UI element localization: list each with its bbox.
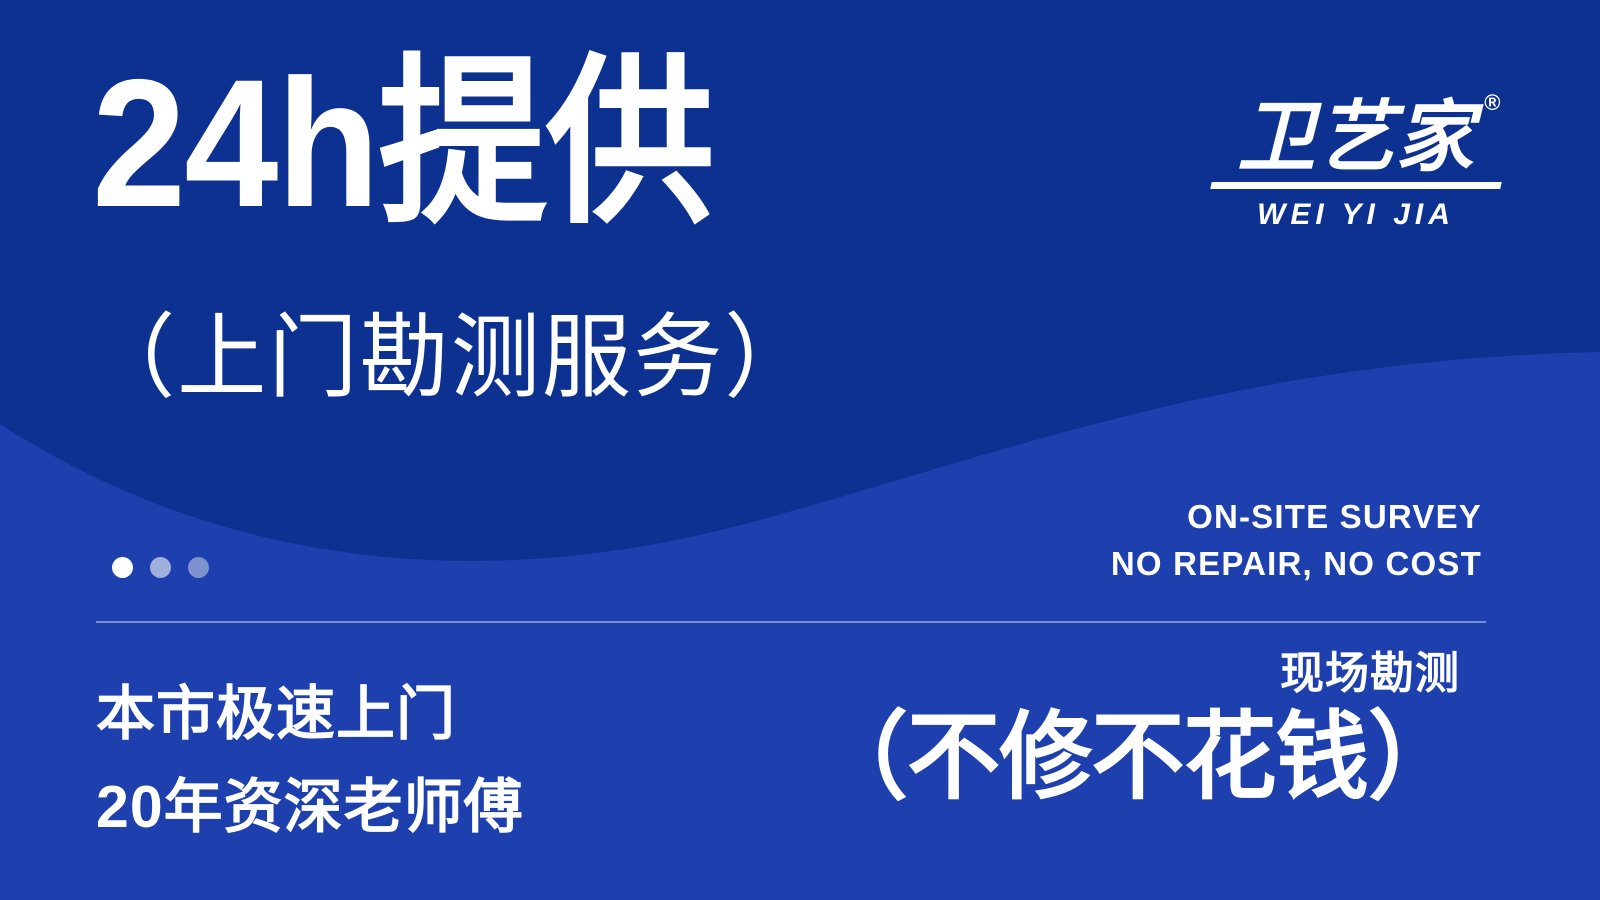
registered-trademark-icon: ® xyxy=(1484,92,1500,114)
promo-banner: 24h提供 （上门勘测服务） 卫艺家 ® WEI YI JIA ON-SITE … xyxy=(0,0,1600,900)
logo-brand-cn: 卫艺家 xyxy=(1237,98,1474,176)
claim-line-2: NO REPAIR, NO COST xyxy=(1111,541,1482,588)
bottom-right-big: （不修不花钱） xyxy=(815,710,1460,806)
brand-logo[interactable]: 卫艺家 ® WEI YI JIA xyxy=(1196,98,1516,232)
dot-1-icon xyxy=(112,557,133,578)
dot-2-icon xyxy=(150,557,171,578)
headline-sub: （上门勘测服务） xyxy=(86,312,815,404)
headline-main: 24h提供 xyxy=(92,52,713,234)
bottom-left-line-1: 本市极速上门 xyxy=(96,668,524,761)
logo-underline-rule xyxy=(1210,182,1501,189)
decorative-dots xyxy=(112,557,209,578)
dot-3-icon xyxy=(188,557,209,578)
english-claim: ON-SITE SURVEY NO REPAIR, NO COST xyxy=(1111,494,1482,588)
logo-wordmark-row: 卫艺家 ® xyxy=(1237,98,1474,176)
claim-line-1: ON-SITE SURVEY xyxy=(1111,494,1482,541)
bottom-left-line-2: 20年资深老师傅 xyxy=(96,761,524,854)
bottom-left-copy: 本市极速上门 20年资深老师傅 xyxy=(96,668,524,854)
bottom-right-copy: 现场勘测 （不修不花钱） xyxy=(795,652,1460,806)
horizontal-divider xyxy=(96,621,1486,623)
logo-brand-en: WEI YI JIA xyxy=(1196,198,1516,232)
bottom-right-small: 现场勘测 xyxy=(795,652,1460,696)
